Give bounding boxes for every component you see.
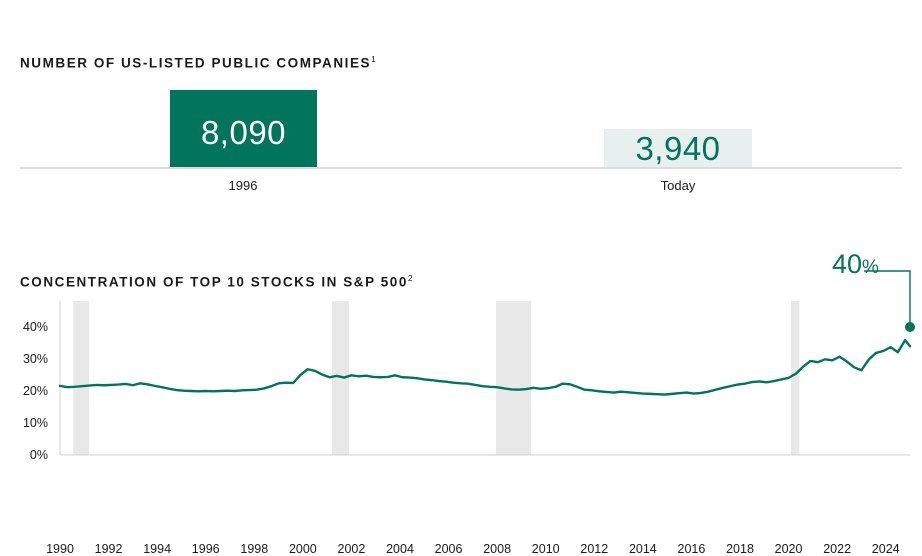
y-axis-tick: 20% bbox=[4, 385, 48, 398]
endpoint-marker-group bbox=[905, 322, 915, 332]
x-axis-tick: 1992 bbox=[86, 543, 132, 556]
x-axis-tick: 2024 bbox=[863, 543, 909, 556]
recession-band bbox=[73, 301, 89, 455]
x-axis-tick: 1996 bbox=[183, 543, 229, 556]
series-line bbox=[60, 340, 910, 394]
recession-band bbox=[791, 301, 800, 455]
page-title: NUMBER OF US-LISTED PUBLIC COMPANIES1 bbox=[20, 54, 376, 71]
x-axis-tick: 2022 bbox=[814, 543, 860, 556]
y-axis-tick: 30% bbox=[4, 353, 48, 366]
bar-chart-baseline bbox=[20, 167, 902, 169]
endpoint-unit: % bbox=[862, 257, 879, 278]
bar-1996-label: 1996 bbox=[163, 178, 323, 193]
x-axis-tick: 2012 bbox=[571, 543, 617, 556]
y-axis-tick: 10% bbox=[4, 417, 48, 430]
public-companies-section: NUMBER OF US-LISTED PUBLIC COMPANIES1 8,… bbox=[0, 0, 922, 215]
x-axis-tick: 2016 bbox=[668, 543, 714, 556]
footnote-marker-1: 1 bbox=[371, 54, 376, 64]
x-axis-tick: 2006 bbox=[426, 543, 472, 556]
x-axis-tick: 2002 bbox=[328, 543, 374, 556]
bar-1996: 8,090 bbox=[170, 90, 317, 167]
concentration-section: CONCENTRATION OF TOP 10 STOCKS IN S&P 50… bbox=[0, 215, 922, 519]
x-axis-tick: 2000 bbox=[280, 543, 326, 556]
recession-band bbox=[496, 301, 531, 455]
bar-today-value: 3,940 bbox=[604, 132, 752, 165]
y-axis-tick: 0% bbox=[4, 449, 48, 462]
x-axis-tick: 2018 bbox=[717, 543, 763, 556]
companies-title-text: NUMBER OF US-LISTED PUBLIC COMPANIES bbox=[20, 56, 371, 71]
callout-leader-line bbox=[864, 271, 910, 323]
bar-1996-value: 8,090 bbox=[170, 116, 317, 149]
callout-leader-group bbox=[864, 271, 910, 323]
y-axis-tick: 40% bbox=[4, 321, 48, 334]
recession-bands-group bbox=[73, 301, 799, 455]
x-axis-tick: 2004 bbox=[377, 543, 423, 556]
bar-today: 3,940 bbox=[604, 129, 752, 167]
line-chart-plot bbox=[0, 261, 922, 475]
x-axis-tick: 2010 bbox=[523, 543, 569, 556]
x-axis-tick: 2014 bbox=[620, 543, 666, 556]
endpoint-value: 40 bbox=[832, 249, 862, 279]
x-axis-tick: 2020 bbox=[766, 543, 812, 556]
x-axis-tick: 1990 bbox=[37, 543, 83, 556]
x-axis-tick: 2008 bbox=[474, 543, 520, 556]
bar-today-label: Today bbox=[598, 178, 758, 193]
endpoint-callout-label: 40% bbox=[832, 251, 879, 278]
endpoint-dot bbox=[905, 322, 915, 332]
x-axis-tick: 1998 bbox=[231, 543, 277, 556]
line-chart: 0%10%20%30%40% 1990199219941996199820002… bbox=[0, 295, 922, 475]
series-group bbox=[60, 340, 910, 394]
x-axis-tick: 1994 bbox=[134, 543, 180, 556]
